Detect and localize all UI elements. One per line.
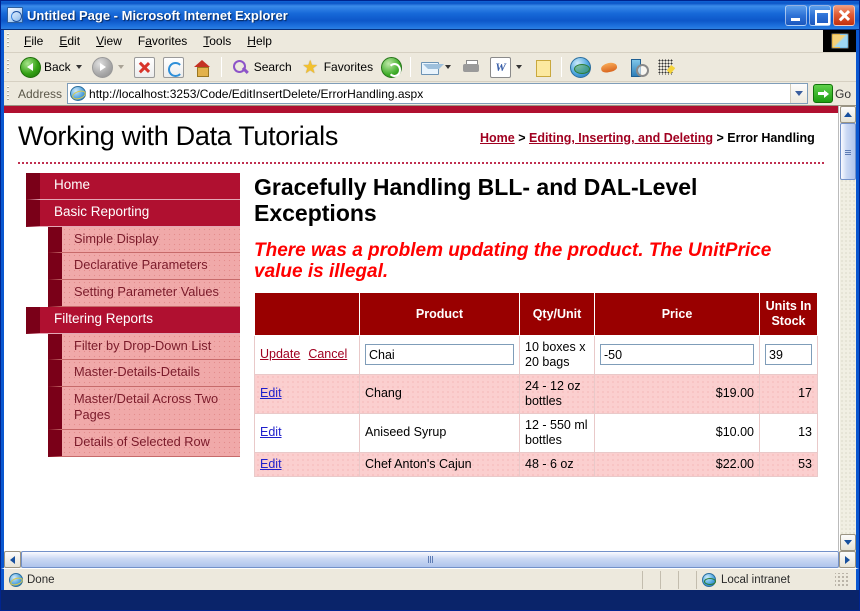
media-button[interactable] — [377, 55, 406, 79]
title-bar: Untitled Page - Microsoft Internet Explo… — [1, 1, 859, 30]
resize-grip[interactable] — [835, 573, 849, 587]
scroll-down-button[interactable] — [840, 534, 856, 551]
status-pane-2 — [660, 571, 678, 589]
chevron-down-icon — [795, 91, 803, 96]
toolbar-separator-2 — [410, 57, 411, 77]
column-header-units-in-stock: Units In Stock — [760, 293, 818, 336]
research-icon — [628, 57, 649, 78]
error-message: There was a problem updating the product… — [254, 240, 818, 283]
sidebar-nav: Home Basic Reporting Simple Display Decl… — [18, 164, 240, 477]
cell-qty-unit: 10 boxes x 20 bags — [520, 335, 595, 374]
cell-qty-unit: 12 - 550 ml bottles — [520, 413, 595, 452]
page-viewport: Working with Data Tutorials Home > Editi… — [1, 106, 859, 551]
sidebar-item-filtering-reports[interactable]: Filtering Reports — [26, 307, 240, 334]
sidebar-item-setting-parameter-values[interactable]: Setting Parameter Values — [48, 280, 240, 307]
msn-butterfly-icon — [599, 57, 620, 78]
word-icon: W — [490, 57, 511, 78]
sidebar-item-home[interactable]: Home — [26, 173, 240, 200]
address-dropdown-button[interactable] — [790, 84, 807, 103]
globe-icon — [570, 57, 591, 78]
mail-button[interactable] — [415, 55, 457, 79]
refresh-button[interactable] — [159, 55, 188, 79]
menu-file[interactable]: FFileile — [16, 31, 51, 51]
star-icon: ★ — [300, 57, 321, 78]
horizontal-scroll-track[interactable] — [21, 551, 839, 568]
mail-icon — [419, 57, 440, 78]
horizontal-scrollbar[interactable] — [1, 551, 859, 568]
go-label: Go — [835, 87, 851, 101]
cell-price: $10.00 — [595, 413, 760, 452]
table-row: Edit Aniseed Syrup 12 - 550 ml bottles $… — [255, 413, 818, 452]
breadcrumb-sep-2: > — [713, 131, 727, 145]
back-button[interactable]: Back — [16, 55, 88, 79]
page-accent-bar — [4, 106, 838, 113]
cell-product: Chang — [360, 374, 520, 413]
sidebar-item-simple-display[interactable]: Simple Display — [48, 227, 240, 254]
toolbar-gripper[interactable] — [7, 59, 11, 75]
forward-arrow-icon — [92, 57, 113, 78]
note-icon — [532, 57, 553, 78]
web-page: Working with Data Tutorials Home > Editi… — [4, 106, 839, 551]
row-commands: Edit — [255, 452, 360, 476]
scroll-right-button[interactable] — [839, 551, 856, 568]
menu-tools[interactable]: Tools — [195, 31, 239, 51]
scroll-left-button[interactable] — [4, 551, 21, 568]
toolbar-separator-3 — [561, 57, 562, 77]
sidebar-item-declarative-parameters[interactable]: Declarative Parameters — [48, 253, 240, 280]
horizontal-scroll-thumb[interactable] — [21, 551, 839, 568]
edit-html-icon — [657, 57, 678, 78]
row-commands: Edit — [255, 374, 360, 413]
table-row: UpdateCancel 10 boxes x 20 bags — [255, 335, 818, 374]
notes-button[interactable] — [528, 55, 557, 79]
security-zone-pane[interactable]: Local intranet — [696, 571, 856, 589]
table-row: Edit Chef Anton's Cajun 48 - 6 oz $22.00… — [255, 452, 818, 476]
cell-price — [595, 335, 760, 374]
edit-with-word-button[interactable]: W — [486, 55, 528, 79]
page-title: Working with Data Tutorials — [18, 121, 478, 152]
cell-price: $19.00 — [595, 374, 760, 413]
column-header-product: Product — [360, 293, 520, 336]
favorites-button[interactable]: ★ Favorites — [296, 55, 377, 79]
column-header-price: Price — [595, 293, 760, 336]
forward-button[interactable] — [88, 55, 130, 79]
favorites-label: Favorites — [324, 60, 373, 74]
stop-button[interactable] — [130, 55, 159, 79]
cell-product — [360, 335, 520, 374]
status-bar: Done Local intranet — [1, 568, 859, 590]
cell-units-in-stock — [760, 335, 818, 374]
cell-price: $22.00 — [595, 452, 760, 476]
row-commands: Edit — [255, 413, 360, 452]
messenger-button[interactable] — [566, 55, 595, 79]
msn-button[interactable] — [595, 55, 624, 79]
chevron-right-icon — [845, 556, 850, 564]
window-controls — [785, 5, 857, 26]
cancel-link[interactable]: Cancel — [308, 347, 347, 361]
main-content: Gracefully Handling BLL- and DAL-Level E… — [240, 164, 824, 477]
products-grid: Product Qty/Unit Price Units In Stock Up… — [254, 292, 818, 477]
scroll-up-button[interactable] — [840, 106, 856, 123]
edit-link[interactable]: Edit — [260, 425, 282, 439]
sidebar-item-master-detail-across-two-pages[interactable]: Master/Detail Across Two Pages — [48, 387, 240, 430]
cell-units-in-stock: 17 — [760, 374, 818, 413]
status-text: Done — [27, 574, 55, 586]
vertical-scroll-thumb[interactable] — [840, 123, 856, 180]
edit-html-button[interactable] — [653, 55, 682, 79]
breadcrumb-section-link[interactable]: Editing, Inserting, and Deleting — [529, 131, 713, 145]
status-pane-3 — [678, 571, 696, 589]
address-label: Address — [16, 87, 67, 101]
chevron-left-icon — [10, 556, 15, 564]
printer-icon — [461, 57, 482, 78]
close-button[interactable] — [833, 5, 855, 26]
page-icon — [70, 86, 86, 101]
search-label: Search — [254, 60, 292, 74]
search-icon — [230, 57, 251, 78]
home-icon — [192, 57, 213, 78]
minimize-button[interactable] — [785, 5, 807, 26]
print-button[interactable] — [457, 55, 486, 79]
cell-product: Aniseed Syrup — [360, 413, 520, 452]
browser-chrome: FFileile Edit View Favorites Tools Help … — [1, 30, 859, 106]
ie-brand-button[interactable] — [823, 30, 856, 52]
sidebar-item-master-details-details[interactable]: Master-Details-Details — [48, 360, 240, 387]
maximize-button[interactable] — [809, 5, 831, 26]
menu-view[interactable]: View — [88, 31, 130, 51]
row-commands: UpdateCancel — [255, 335, 360, 374]
back-arrow-icon — [20, 57, 41, 78]
refresh-icon — [163, 57, 184, 78]
column-header-command — [255, 293, 360, 336]
update-link[interactable]: Update — [260, 347, 300, 361]
sidebar-item-filter-by-drop-down-list[interactable]: Filter by Drop-Down List — [48, 334, 240, 361]
page-header: Working with Data Tutorials Home > Editi… — [18, 113, 824, 164]
stop-icon — [134, 57, 155, 78]
breadcrumb-current: Error Handling — [727, 131, 815, 145]
edit-link[interactable]: Edit — [260, 386, 282, 400]
back-history-chevron-down-icon[interactable] — [76, 65, 82, 69]
sidebar-item-details-of-selected-row[interactable]: Details of Selected Row — [48, 430, 240, 457]
window-title: Untitled Page - Microsoft Internet Explo… — [27, 8, 785, 23]
breadcrumb-home-link[interactable]: Home — [480, 131, 515, 145]
table-row: Edit Chang 24 - 12 oz bottles $19.00 17 — [255, 374, 818, 413]
address-url-text: http://localhost:3253/Code/EditInsertDel… — [89, 87, 790, 101]
menu-help[interactable]: Help — [239, 31, 280, 51]
menu-bar: FFileile Edit View Favorites Tools Help — [4, 30, 856, 53]
address-gripper[interactable] — [7, 86, 11, 102]
vertical-scroll-track[interactable] — [840, 123, 856, 534]
media-icon — [381, 57, 402, 78]
address-bar: Address http://localhost:3253/Code/EditI… — [4, 82, 856, 106]
go-button[interactable]: Go — [810, 84, 854, 103]
home-button[interactable] — [188, 55, 217, 79]
go-arrow-icon — [813, 84, 833, 103]
navigation-toolbar: Back Search ★ Favorite — [4, 53, 856, 82]
menu-favorites[interactable]: Favorites — [130, 31, 195, 51]
cell-qty-unit: 24 - 12 oz bottles — [520, 374, 595, 413]
grid-header-row: Product Qty/Unit Price Units In Stock — [255, 293, 818, 336]
word-chevron-down-icon[interactable] — [516, 65, 522, 69]
toolbar-separator — [221, 57, 222, 77]
windows-logo-icon — [831, 33, 849, 49]
back-label: Back — [44, 60, 71, 74]
status-pane-1 — [642, 571, 660, 589]
security-zone-label: Local intranet — [721, 574, 790, 586]
window-icon — [7, 7, 23, 23]
research-button[interactable] — [624, 55, 653, 79]
price-input[interactable] — [600, 344, 754, 365]
zone-globe-icon — [702, 573, 716, 587]
edit-link[interactable]: Edit — [260, 457, 282, 471]
cell-units-in-stock: 13 — [760, 413, 818, 452]
breadcrumb-sep-1: > — [515, 131, 529, 145]
cell-qty-unit: 48 - 6 oz — [520, 452, 595, 476]
cell-product: Chef Anton's Cajun — [360, 452, 520, 476]
content-heading: Gracefully Handling BLL- and DAL-Level E… — [254, 174, 818, 227]
chevron-down-icon — [844, 540, 852, 545]
breadcrumb: Home > Editing, Inserting, and Deleting … — [478, 121, 815, 147]
status-text-pane: Done — [4, 571, 642, 589]
cell-units-in-stock: 53 — [760, 452, 818, 476]
product-name-input[interactable] — [365, 344, 514, 365]
address-input[interactable]: http://localhost:3253/Code/EditInsertDel… — [67, 83, 808, 104]
chevron-up-icon — [844, 112, 852, 117]
mail-chevron-down-icon[interactable] — [445, 65, 451, 69]
vertical-scrollbar[interactable] — [839, 106, 856, 551]
search-button[interactable]: Search — [226, 55, 296, 79]
page-status-icon — [9, 573, 23, 587]
browser-window: Untitled Page - Microsoft Internet Explo… — [0, 0, 860, 611]
menu-gripper[interactable] — [7, 33, 11, 49]
units-in-stock-input[interactable] — [765, 344, 812, 365]
menu-edit[interactable]: Edit — [51, 31, 88, 51]
column-header-qty-unit: Qty/Unit — [520, 293, 595, 336]
sidebar-item-basic-reporting[interactable]: Basic Reporting — [26, 200, 240, 227]
forward-history-chevron-down-icon[interactable] — [118, 65, 124, 69]
